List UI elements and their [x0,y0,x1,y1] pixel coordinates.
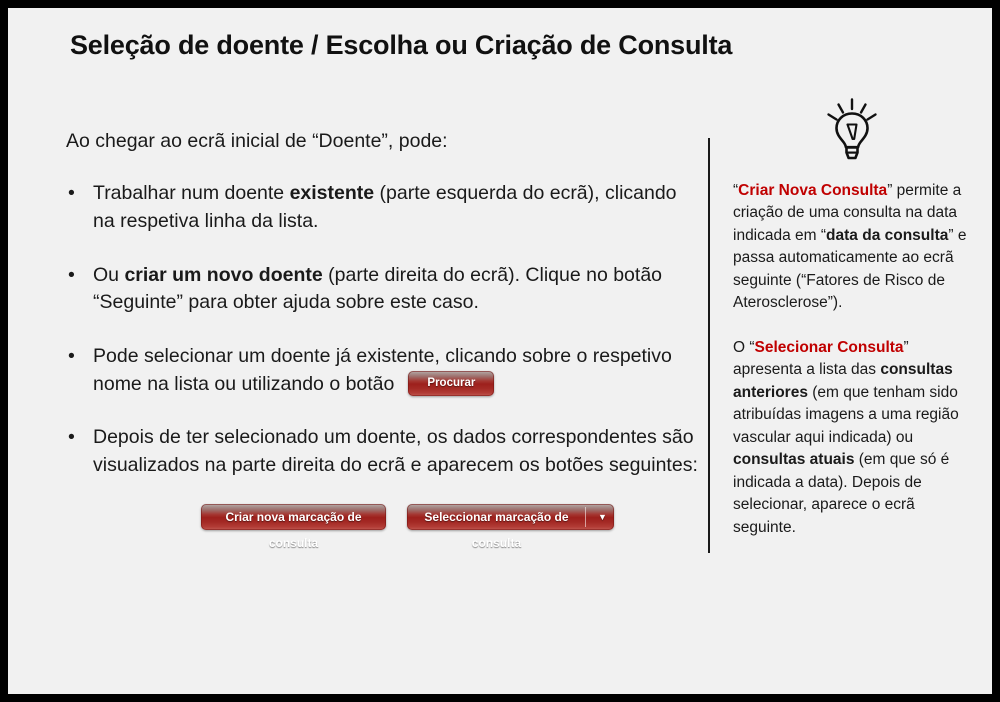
page-title: Seleção de doente / Escolha ou Criação d… [70,30,732,61]
tip-paragraph-1: “Criar Nova Consulta” permite a criação … [733,180,968,315]
action-button-row: Criar nova marcação de consulta Seleccio… [201,504,614,530]
bullet-segment: Ou [93,264,124,286]
tip-paragraph-2: O “Selecionar Consulta” apresenta a list… [733,337,968,539]
tip-segment: O “ [733,339,755,356]
bullet-text-4: Depois de ter selecionado um doente, os … [93,426,698,476]
bullet-text-3: Pode selecionar um doente já existente, … [93,345,672,395]
slide-canvas: Seleção de doente / Escolha ou Criação d… [8,8,992,694]
chevron-down-icon[interactable]: ▼ [590,504,614,530]
create-new-appointment-button[interactable]: Criar nova marcação de consulta [201,504,386,530]
list-item: • Trabalhar num doente existente (parte … [58,180,703,235]
bullet-marker: • [68,180,75,208]
bullet-text-2: Ou criar um novo doente (parte direita d… [93,264,662,314]
tip-segment-bold: data da consulta [826,227,948,244]
tip-segment-bold: consultas atuais [733,451,854,468]
bullet-segment: Trabalhar num doente [93,182,290,204]
lightbulb-icon [826,98,878,160]
tip-segment-highlight: Selecionar Consulta [755,339,904,356]
bullet-marker: • [68,424,75,452]
intro-paragraph: Ao chegar ao ecrã inicial de “Doente”, p… [66,128,703,154]
tip-sidebar: “Criar Nova Consulta” permite a criação … [733,180,968,561]
split-button-divider [585,507,586,527]
bullet-marker: • [68,262,75,290]
bullet-segment-bold: criar um novo doente [124,264,322,286]
left-content-column: Ao chegar ao ecrã inicial de “Doente”, p… [58,128,703,506]
list-item: • Depois de ter selecionado um doente, o… [58,424,703,479]
bullet-marker: • [68,343,75,371]
bullet-segment-bold: existente [290,182,375,204]
select-appointment-split-button[interactable]: Seleccionar marcação de consulta ▼ [407,504,614,530]
list-item: • Pode selecionar um doente já existente… [58,343,703,398]
bullet-text-1: Trabalhar num doente existente (parte es… [93,182,677,232]
vertical-divider [708,138,710,553]
list-item: • Ou criar um novo doente (parte direita… [58,262,703,317]
tip-segment-highlight: Criar Nova Consulta [738,182,887,199]
select-appointment-label[interactable]: Seleccionar marcação de consulta [407,504,585,530]
procurar-button[interactable]: Procurar [408,371,494,396]
